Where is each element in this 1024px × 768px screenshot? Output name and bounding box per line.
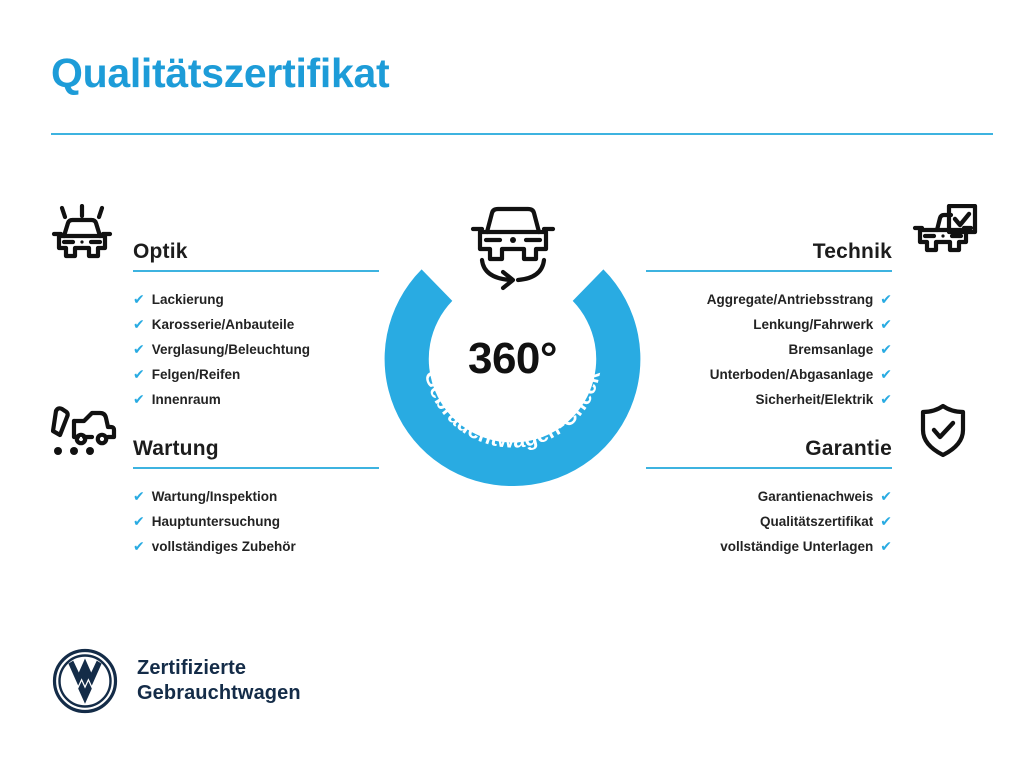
check-icon: ✔ (880, 534, 892, 558)
car-shine-icon (40, 200, 124, 268)
section-header-garantie: Garantie (640, 397, 985, 469)
section-title-wrap-optik: Optik (133, 241, 379, 272)
vw-logo (52, 648, 118, 714)
check-icon: ✔ (133, 312, 145, 336)
footer-branding: Zertifizierte Gebrauchtwagen (52, 648, 301, 714)
check-list-technik: ✔Aggregate/Antriebsstrang ✔Lenkung/Fahrw… (640, 287, 985, 412)
section-title-wrap-garantie: Garantie (646, 438, 892, 469)
list-item-label: Unterboden/Abgasanlage (710, 363, 874, 387)
section-technik: Technik ✔Aggregate/Antriebsstrang ✔Lenku… (640, 200, 985, 412)
check-list-wartung: ✔Wartung/Inspektion ✔Hauptuntersuchung ✔… (40, 484, 385, 559)
car-rotate-360-icon (458, 196, 568, 292)
list-item-label: Lenkung/Fahrwerk (753, 313, 873, 337)
center-360-badge: Gebrauchtwagen-Check 360° (380, 196, 645, 486)
check-icon: ✔ (880, 362, 892, 386)
list-item-label: Verglasung/Beleuchtung (152, 338, 310, 362)
footer-line-2: Gebrauchtwagen (137, 681, 301, 706)
check-icon: ✔ (133, 287, 145, 311)
check-icon: ✔ (133, 509, 145, 533)
title-divider (51, 133, 993, 135)
list-item: ✔Unterboden/Abgasanlage (640, 362, 985, 387)
certificate-page: Qualitätszertifikat Optik (0, 0, 1024, 768)
section-underline-garantie (646, 467, 892, 469)
list-item-label: Wartung/Inspektion (152, 485, 278, 509)
car-checkbox-icon (901, 200, 985, 268)
section-title-optik: Optik (133, 241, 379, 270)
section-title-wartung: Wartung (133, 438, 379, 467)
list-item: ✔Hauptuntersuchung (40, 509, 385, 534)
list-item: ✔Bremsanlage (640, 337, 985, 362)
section-header-wartung: Wartung (40, 397, 385, 469)
check-icon: ✔ (133, 337, 145, 361)
footer-text: Zertifizierte Gebrauchtwagen (137, 656, 301, 705)
section-underline-technik (646, 270, 892, 272)
car-service-tool-icon (40, 397, 124, 465)
list-item-label: vollständiges Zubehör (152, 535, 296, 559)
list-item-label: Garantienachweis (758, 485, 874, 509)
list-item: ✔vollständige Unterlagen (640, 534, 985, 559)
section-title-garantie: Garantie (646, 438, 892, 467)
section-title-wrap-wartung: Wartung (133, 438, 379, 469)
section-garantie: Garantie ✔Garantienachweis ✔Qualitätszer… (640, 397, 985, 559)
footer-line-1: Zertifizierte (137, 656, 301, 681)
check-icon: ✔ (133, 534, 145, 558)
list-item-label: Aggregate/Antriebsstrang (707, 288, 874, 312)
list-item-label: Bremsanlage (788, 338, 873, 362)
list-item: ✔Wartung/Inspektion (40, 484, 385, 509)
list-item: ✔Karosserie/Anbauteile (40, 312, 385, 337)
list-item: ✔Felgen/Reifen (40, 362, 385, 387)
section-optik: Optik ✔Lackierung ✔Karosserie/Anbauteile… (40, 200, 385, 412)
list-item-label: Felgen/Reifen (152, 363, 241, 387)
section-title-technik: Technik (646, 241, 892, 270)
page-title: Qualitätszertifikat (51, 52, 389, 95)
section-underline-wartung (133, 467, 379, 469)
list-item-label: Karosserie/Anbauteile (152, 313, 295, 337)
check-icon: ✔ (880, 509, 892, 533)
shield-check-icon (901, 397, 985, 465)
section-header-optik: Optik (40, 200, 385, 272)
section-title-wrap-technik: Technik (646, 241, 892, 272)
list-item-label: vollständige Unterlagen (720, 535, 873, 559)
list-item: ✔Verglasung/Beleuchtung (40, 337, 385, 362)
list-item: ✔Lenkung/Fahrwerk (640, 312, 985, 337)
check-icon: ✔ (880, 287, 892, 311)
list-item: ✔Lackierung (40, 287, 385, 312)
section-underline-optik (133, 270, 379, 272)
check-list-optik: ✔Lackierung ✔Karosserie/Anbauteile ✔Verg… (40, 287, 385, 412)
check-icon: ✔ (133, 362, 145, 386)
check-list-garantie: ✔Garantienachweis ✔Qualitätszertifikat ✔… (640, 484, 985, 559)
list-item-label: Lackierung (152, 288, 224, 312)
list-item-label: Qualitätszertifikat (760, 510, 873, 534)
list-item: ✔Aggregate/Antriebsstrang (640, 287, 985, 312)
section-header-technik: Technik (640, 200, 985, 272)
list-item-label: Hauptuntersuchung (152, 510, 280, 534)
list-item: ✔Garantienachweis (640, 484, 985, 509)
check-icon: ✔ (133, 484, 145, 508)
section-wartung: Wartung ✔Wartung/Inspektion ✔Hauptunters… (40, 397, 385, 559)
check-icon: ✔ (880, 312, 892, 336)
list-item: ✔Qualitätszertifikat (640, 509, 985, 534)
check-icon: ✔ (880, 484, 892, 508)
check-icon: ✔ (880, 337, 892, 361)
list-item: ✔vollständiges Zubehör (40, 534, 385, 559)
